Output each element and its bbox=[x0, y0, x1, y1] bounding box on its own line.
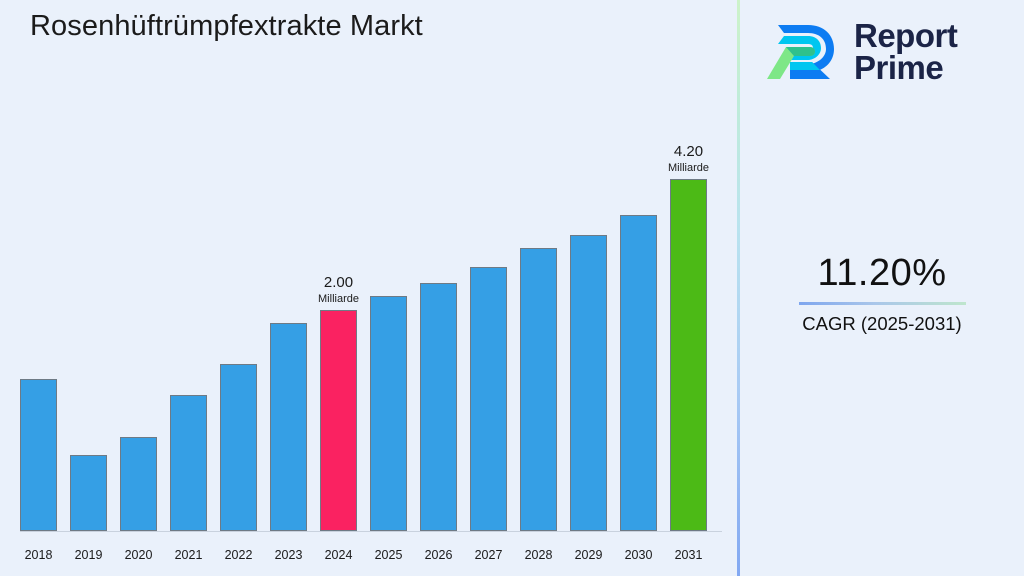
bar-2025[interactable] bbox=[370, 296, 407, 531]
bar-2019[interactable] bbox=[70, 455, 107, 531]
bar-2023[interactable] bbox=[270, 323, 307, 531]
x-tick-2026: 2026 bbox=[420, 548, 457, 562]
chart-panel: Rosenhüftrümpfextrakte Markt 2.00Milliar… bbox=[0, 0, 738, 576]
cagr-caption: CAGR (2025-2031) bbox=[740, 312, 1024, 336]
bar-2030[interactable] bbox=[620, 215, 657, 531]
bar-2020[interactable] bbox=[120, 437, 157, 531]
brand-line-2: Prime bbox=[854, 49, 943, 86]
bar-2028[interactable] bbox=[520, 248, 557, 531]
x-tick-2029: 2029 bbox=[570, 548, 607, 562]
cagr-block: 11.20% CAGR (2025-2031) bbox=[740, 250, 1024, 336]
bar-2029[interactable] bbox=[570, 235, 607, 531]
cagr-value: 11.20% bbox=[740, 250, 1024, 296]
cagr-divider-rule bbox=[799, 302, 966, 305]
right-panel: Report Prime 11.20% CAGR (2025-2031) bbox=[740, 0, 1024, 576]
bar-2027[interactable] bbox=[470, 267, 507, 531]
x-tick-2022: 2022 bbox=[220, 548, 257, 562]
infographic-root: Rosenhüftrümpfextrakte Markt 2.00Milliar… bbox=[0, 0, 1024, 576]
x-tick-2024: 2024 bbox=[320, 548, 357, 562]
x-tick-2023: 2023 bbox=[270, 548, 307, 562]
bar-2022[interactable] bbox=[220, 364, 257, 531]
page-title: Rosenhüftrümpfextrakte Markt bbox=[30, 10, 423, 43]
brand-wordmark: Report Prime bbox=[854, 20, 957, 83]
bar-value-2031: 4.20 bbox=[668, 143, 709, 161]
x-tick-2018: 2018 bbox=[20, 548, 57, 562]
bar-2031[interactable] bbox=[670, 179, 707, 531]
bar-2026[interactable] bbox=[420, 283, 457, 531]
bar-value-2024: 2.00 bbox=[318, 274, 359, 292]
x-tick-2027: 2027 bbox=[470, 548, 507, 562]
x-tick-2020: 2020 bbox=[120, 548, 157, 562]
bar-2018[interactable] bbox=[20, 379, 57, 531]
bar-2024[interactable] bbox=[320, 310, 357, 531]
bar-value-label-2031: 4.20Milliarde bbox=[668, 143, 709, 175]
x-axis-line bbox=[20, 531, 722, 532]
x-tick-2031: 2031 bbox=[670, 548, 707, 562]
bar-unit-2031: Milliarde bbox=[668, 161, 709, 175]
x-tick-2030: 2030 bbox=[620, 548, 657, 562]
brand-logo: Report Prime bbox=[764, 12, 1004, 92]
x-tick-2021: 2021 bbox=[170, 548, 207, 562]
x-tick-2028: 2028 bbox=[520, 548, 557, 562]
x-tick-2025: 2025 bbox=[370, 548, 407, 562]
report-prime-logo-icon bbox=[764, 17, 840, 87]
bar-value-label-2024: 2.00Milliarde bbox=[318, 274, 359, 306]
x-tick-2019: 2019 bbox=[70, 548, 107, 562]
bar-unit-2024: Milliarde bbox=[318, 292, 359, 306]
bar-2021[interactable] bbox=[170, 395, 207, 531]
